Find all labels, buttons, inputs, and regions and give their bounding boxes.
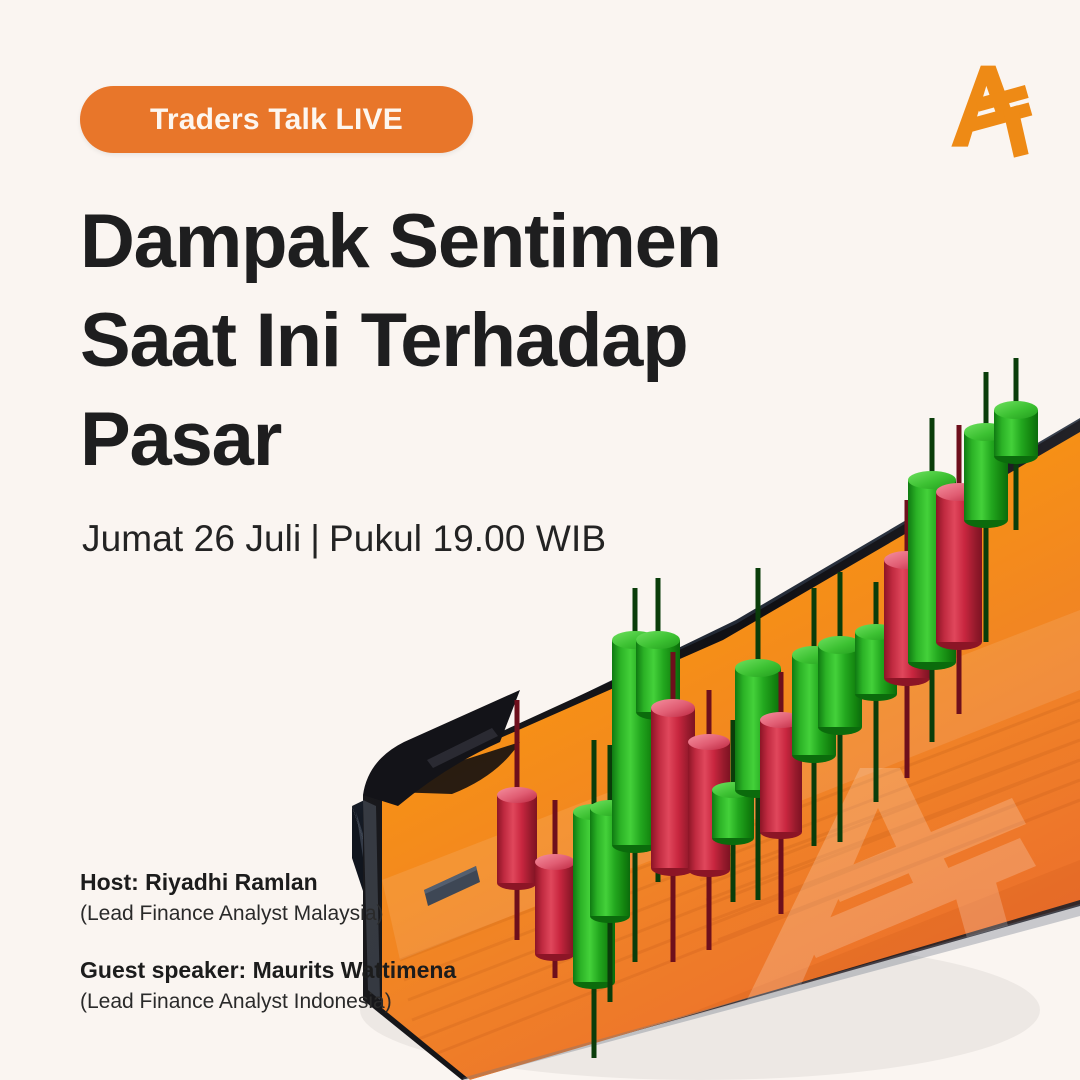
speaker-credits: Host: Riyadhi Ramlan (Lead Finance Analy… [80,866,600,1043]
host-role: (Lead Finance Analyst Malaysia) [80,899,600,929]
candle-bull [712,720,754,902]
live-badge[interactable]: Traders Talk LIVE [80,86,473,153]
candle-bull [735,568,781,900]
candle-bear [936,425,982,714]
event-date: Jumat 26 Juli [82,518,301,559]
headline-line-3: Pasar [80,391,820,490]
credit-guest: Guest speaker: Maurits Wattimena (Lead F… [80,954,600,1016]
candle-bull [908,418,956,742]
page-title: Dampak Sentimen Saat Ini Terhadap Pasar [80,193,820,489]
candle-bull [612,588,658,962]
live-badge-label: Traders Talk LIVE [150,103,403,137]
brand-a-logo [944,58,1036,158]
screen-watermark-logo [742,768,1036,1010]
host-name: Host: Riyadhi Ramlan [80,866,600,899]
candle-bull [855,582,897,802]
guest-role: (Lead Finance Analyst Indonesia) [80,987,600,1017]
event-time: Pukul 19.00 WIB [329,518,606,559]
headline-line-1: Dampak Sentimen [80,193,820,292]
headline-line-2: Saat Ini Terhadap [80,292,820,391]
candle-bull [994,358,1038,530]
candle-bear [884,500,930,778]
candle-bear [760,672,802,914]
poster-canvas: Traders Talk LIVE Dampak Sentimen Saat I… [0,0,1080,1080]
datetime-separator: | [301,518,329,560]
candle-bear [688,690,730,950]
candle-bull [818,572,862,842]
candle-bull [964,372,1008,642]
credit-host: Host: Riyadhi Ramlan (Lead Finance Analy… [80,866,600,928]
guest-name: Guest speaker: Maurits Wattimena [80,954,600,987]
candle-bull [636,578,680,882]
candle-bull [792,588,836,846]
candle-bear [651,652,695,962]
event-datetime: Jumat 26 Juli|Pukul 19.00 WIB [82,518,606,560]
